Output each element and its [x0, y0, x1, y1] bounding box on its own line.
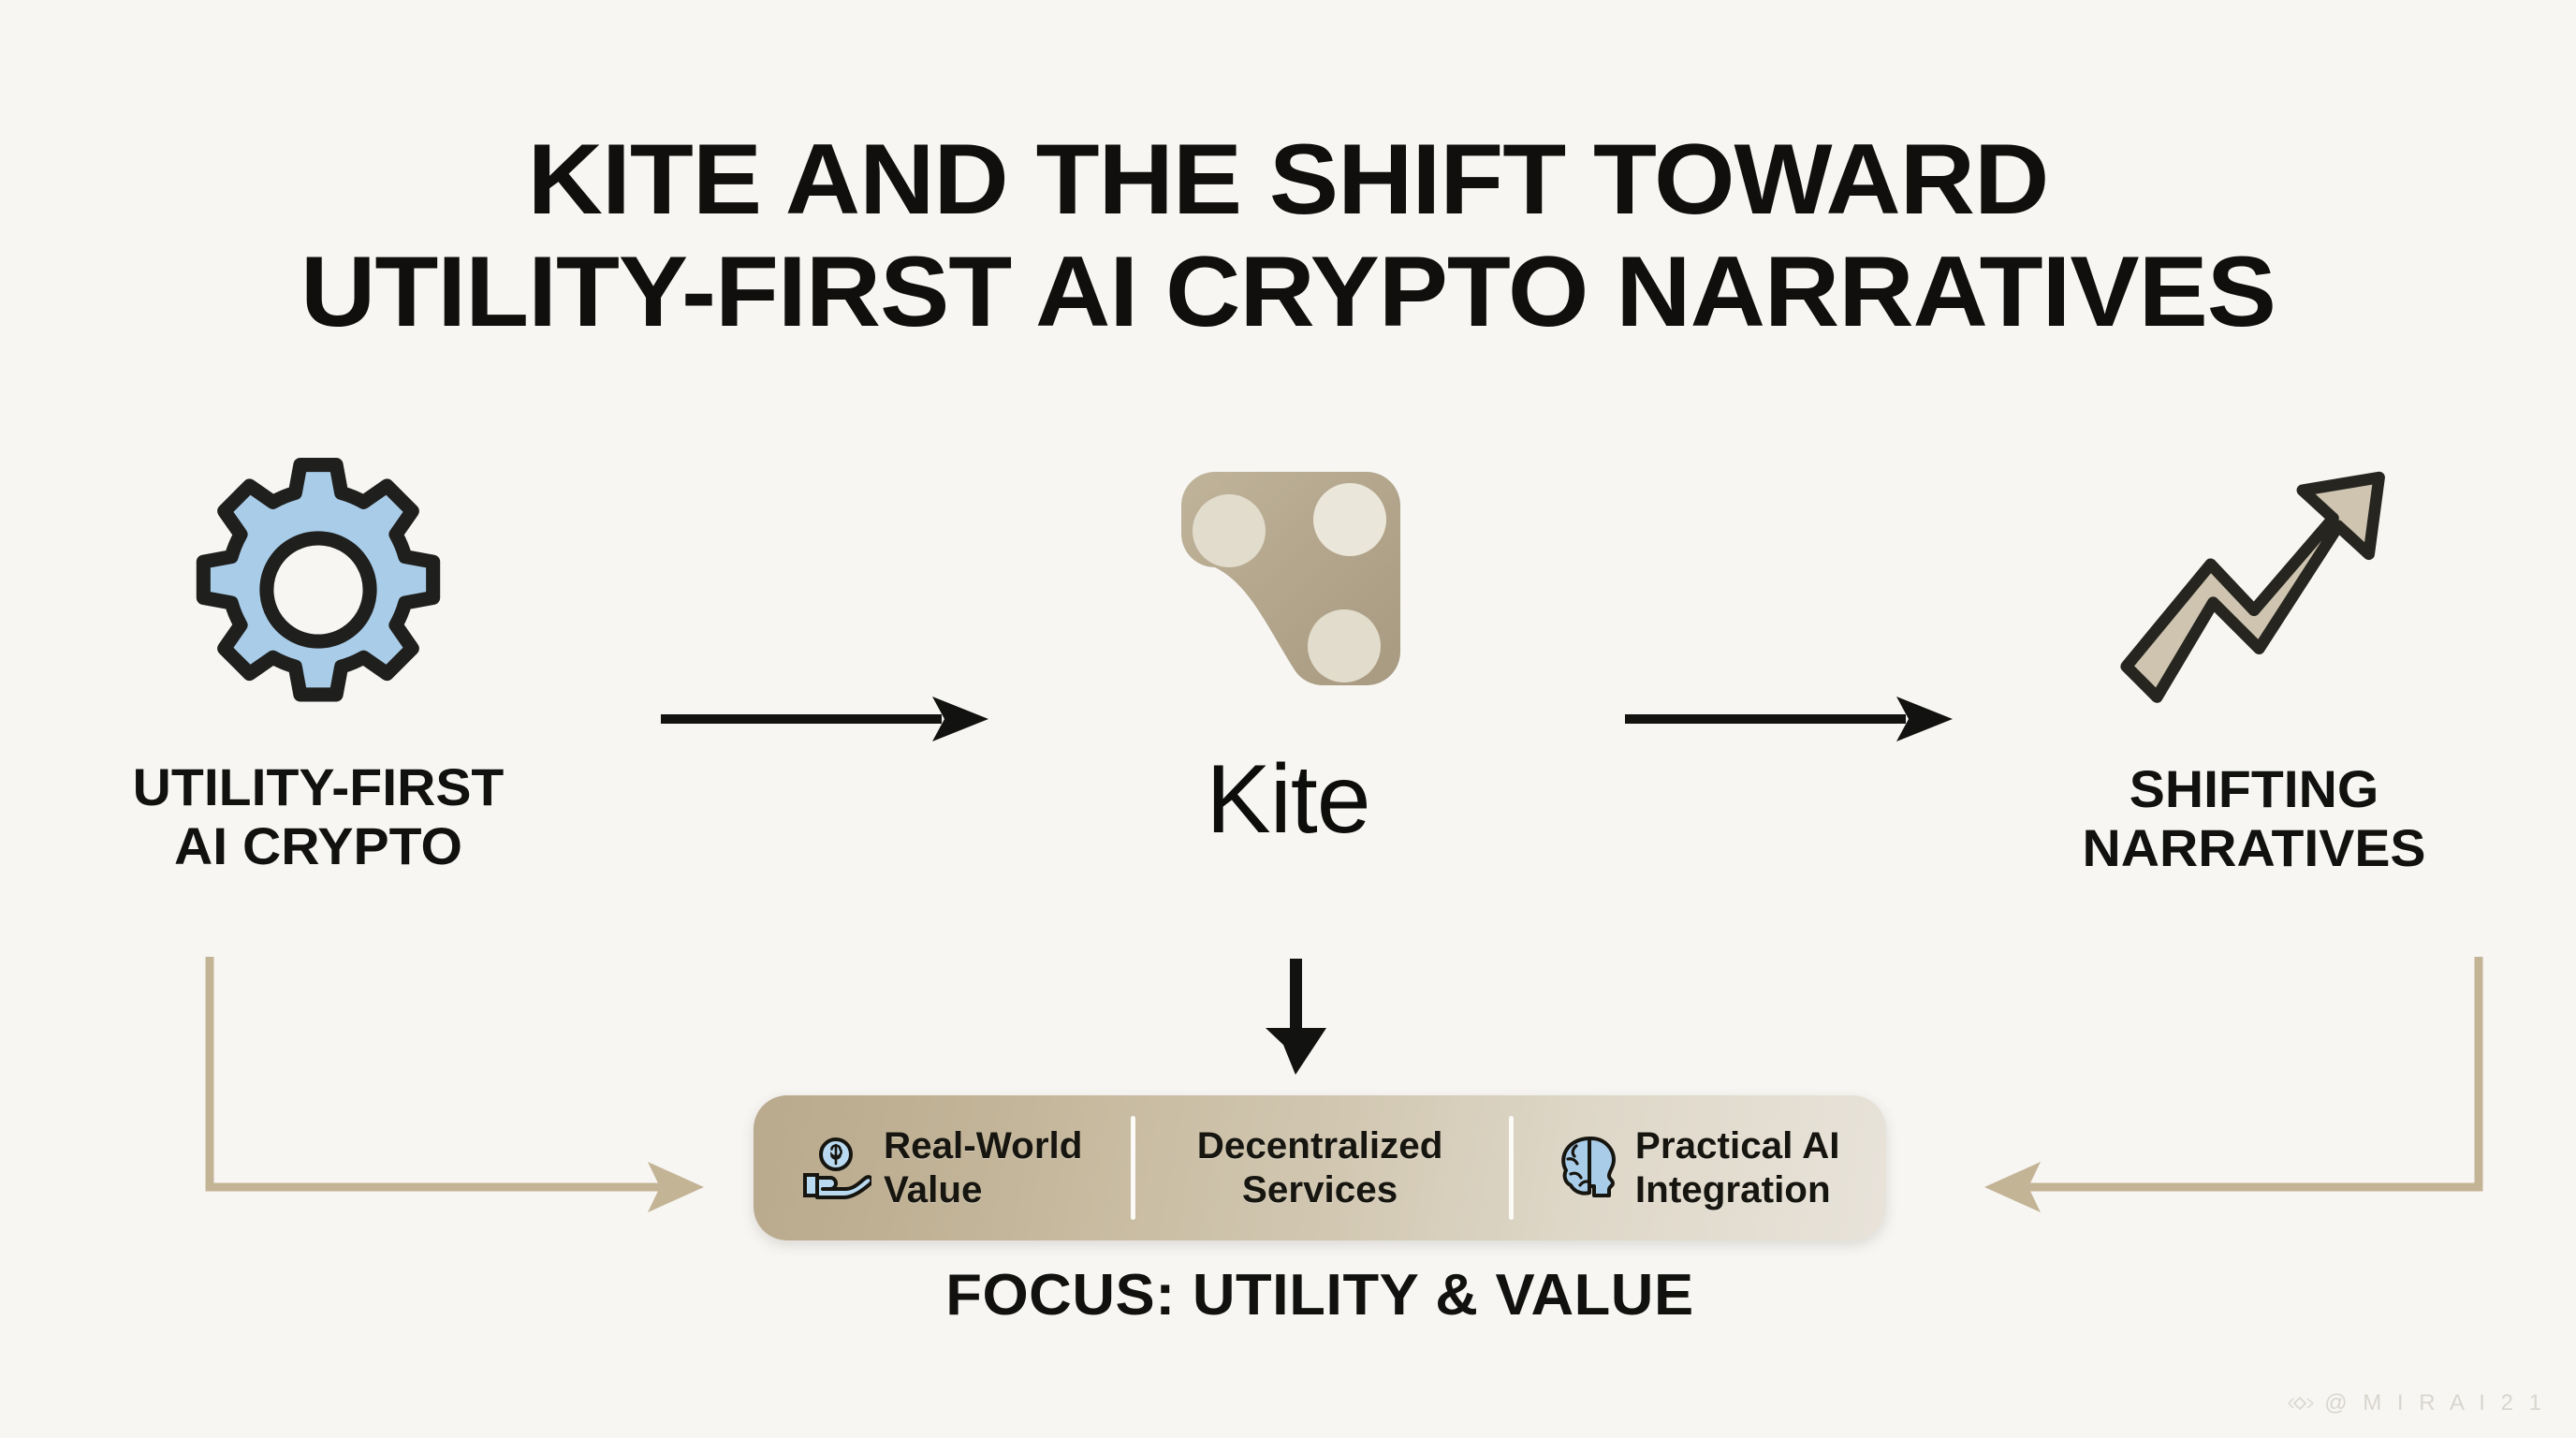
focus-caption: FOCUS: UTILITY & VALUE	[742, 1262, 1897, 1328]
connector-arrow-down	[1217, 955, 1376, 1100]
title-line-2: UTILITY-FIRST AI CRYPTO NARRATIVES	[0, 236, 2576, 348]
arrow-right-icon	[1619, 672, 1966, 766]
flow-node-label-kite: Kite	[1026, 751, 1550, 848]
page-title: KITE AND THE SHIFT TOWARD UTILITY-FIRST …	[0, 124, 2576, 348]
feature-item-practical-ai-integration[interactable]: Practical AI Integration	[1509, 1095, 1886, 1240]
connector-elbow-left	[204, 957, 728, 1233]
brain-head-icon	[1556, 1133, 1623, 1204]
feature-label-real-world-value: Real-World Value	[884, 1124, 1082, 1211]
connector-arrow-right-2	[1619, 672, 1966, 770]
diamond-logo-icon	[2287, 1391, 2315, 1416]
connector-arrow-right-1	[655, 672, 1002, 770]
watermark-text: @ M I R A I 2 1	[2324, 1392, 2546, 1415]
kite-logo-slot	[1026, 449, 1550, 730]
feature-item-real-world-value[interactable]: Real-World Value	[754, 1095, 1131, 1240]
growth-arrow-icon-slot	[1992, 449, 2516, 730]
title-line-1: KITE AND THE SHIFT TOWARD	[0, 124, 2576, 236]
arrow-right-icon	[655, 672, 1002, 766]
hand-holding-coin-icon	[802, 1136, 871, 1201]
feature-label-practical-ai-integration: Practical AI Integration	[1635, 1124, 1840, 1211]
elbow-down-left-icon	[1960, 957, 2484, 1228]
elbow-down-right-icon	[204, 957, 728, 1228]
kite-logo	[1148, 449, 1428, 730]
growth-arrow-icon	[2114, 459, 2394, 721]
arrow-down-icon	[1217, 955, 1376, 1095]
infographic-canvas: KITE AND THE SHIFT TOWARD UTILITY-FIRST …	[0, 0, 2576, 1438]
flow-node-shifting-narratives: SHIFTING NARRATIVES	[1992, 449, 2516, 877]
feature-label-decentralized-services: Decentralized Services	[1197, 1124, 1443, 1211]
feature-bar: Real-World Value Decentralized Services …	[754, 1095, 1886, 1240]
feature-item-decentralized-services[interactable]: Decentralized Services	[1131, 1095, 1508, 1240]
flow-node-label-shifting-narratives: SHIFTING NARRATIVES	[1986, 760, 2521, 877]
gear-icon-slot	[56, 449, 580, 730]
gear-icon	[183, 454, 454, 726]
flow-node-utility-first: UTILITY-FIRST AI CRYPTO	[56, 449, 580, 875]
flow-node-label-utility-first: UTILITY-FIRST AI CRYPTO	[51, 758, 585, 875]
flow-node-kite: Kite	[1026, 449, 1550, 848]
watermark: @ M I R A I 2 1	[2287, 1391, 2546, 1416]
connector-elbow-right	[1960, 957, 2484, 1233]
